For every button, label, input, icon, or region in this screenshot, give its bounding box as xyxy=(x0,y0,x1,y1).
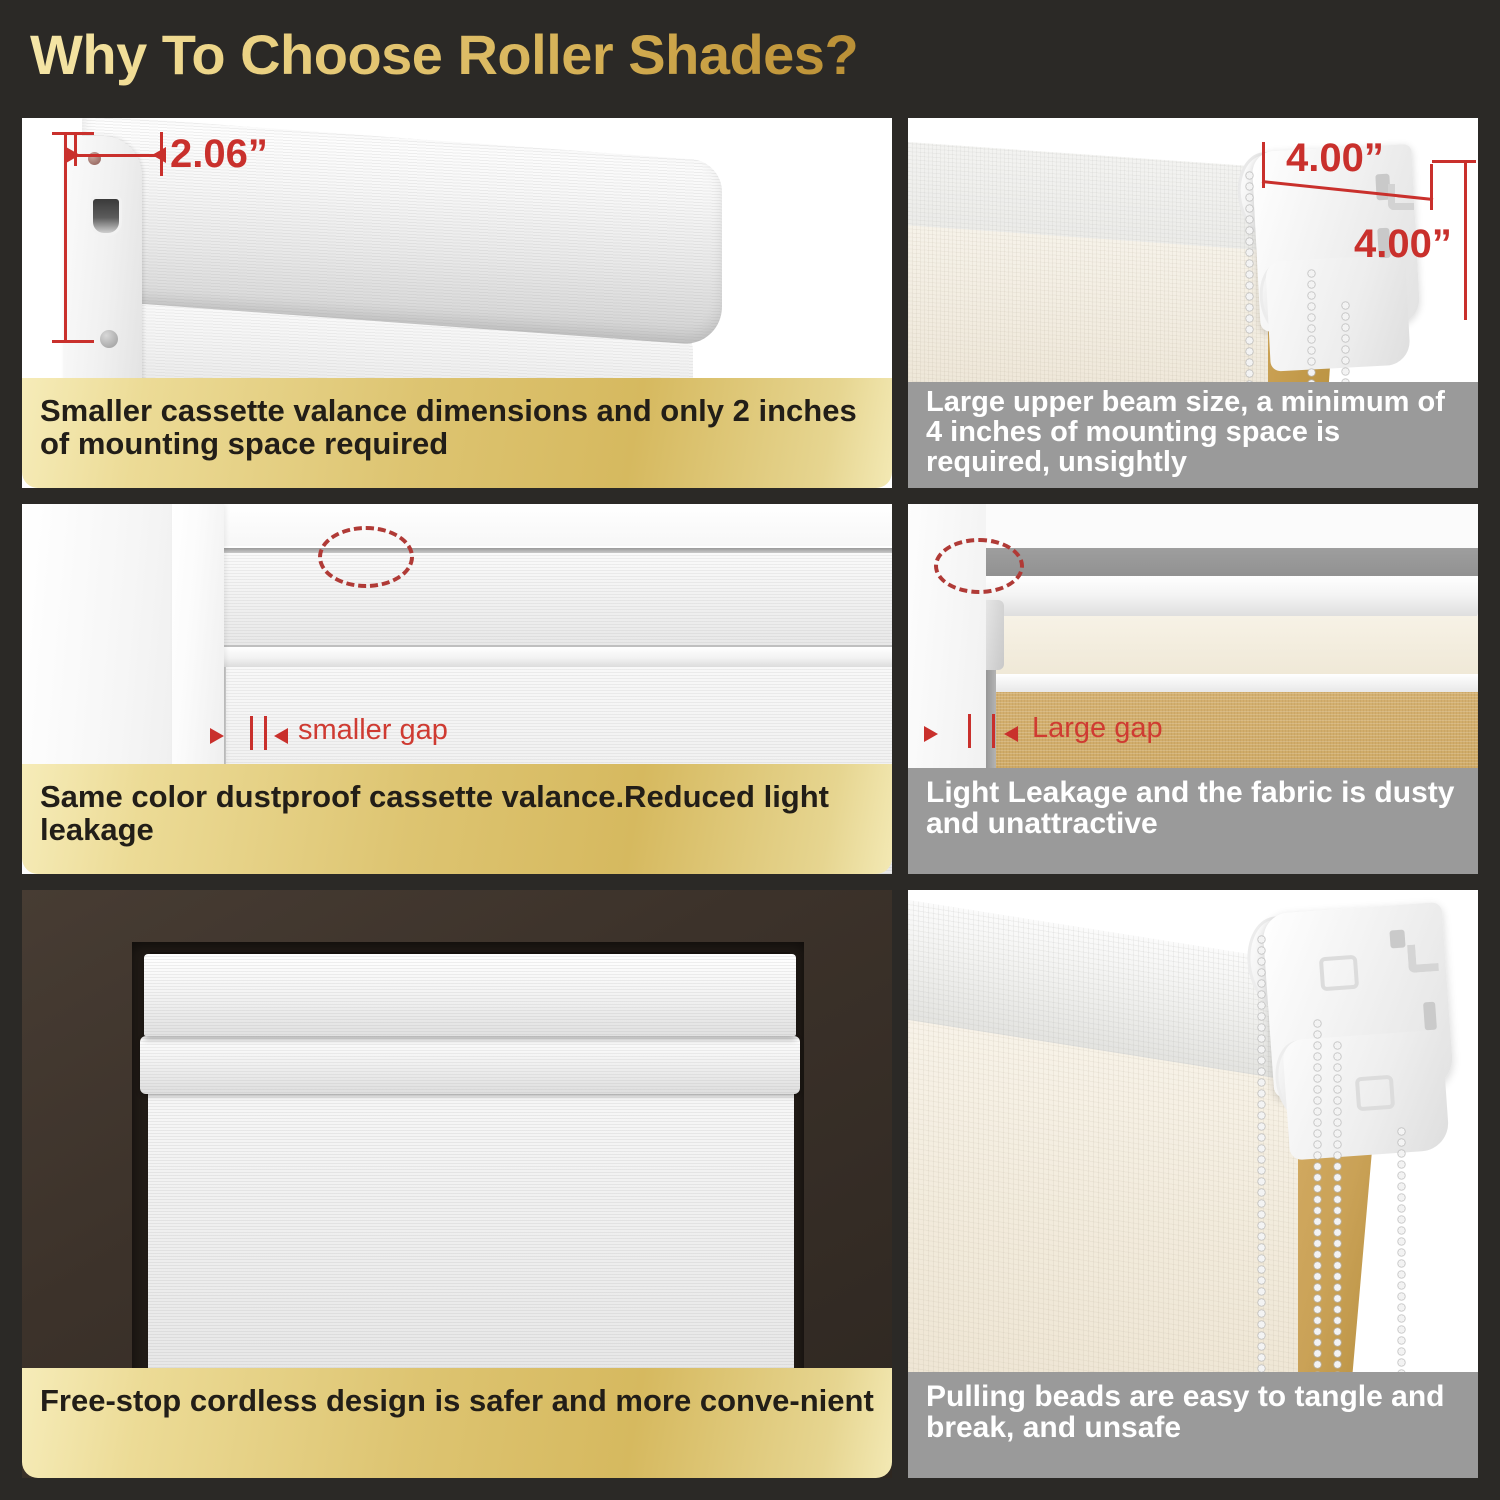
dim-ext-bottom xyxy=(52,340,94,343)
panel-pro-light-leakage: smaller gap Same color dustproof cassett… xyxy=(22,504,892,874)
mounting-bracket xyxy=(1265,254,1411,371)
highlight-ellipse-icon xyxy=(318,526,414,588)
dim-tick-right xyxy=(1430,164,1433,210)
screw-icon xyxy=(100,330,118,348)
panel-pro-cassette-size: 2.06” 5.49” Smaller cassette valance dim… xyxy=(22,118,892,488)
dimension-label-width: 2.06” xyxy=(170,132,268,177)
dim-arrow-left xyxy=(66,147,80,163)
caption-pro-cordless: Free-stop cordless design is safer and m… xyxy=(22,1368,892,1478)
gap-arrow-right xyxy=(1004,726,1018,742)
page-title: Why To Choose Roller Shades? xyxy=(30,22,858,87)
bead-chain xyxy=(1332,1040,1343,1424)
gap-marker-a xyxy=(968,714,971,748)
gap-arrow-right xyxy=(274,728,288,744)
panel-con-light-leakage: Large gap Light Leakage and the fabric i… xyxy=(908,504,1478,874)
gap-arrow-left xyxy=(210,728,224,744)
dim-line-width xyxy=(74,154,164,157)
caption-con-beam-size: Large upper beam size, a minimum of 4 in… xyxy=(908,382,1478,488)
dim-arrow-right xyxy=(152,147,166,163)
panel-pro-cordless: Free-stop cordless design is safer and m… xyxy=(22,890,892,1478)
dim-ext-top xyxy=(52,132,94,135)
caption-con-light-leakage: Light Leakage and the fabric is dusty an… xyxy=(908,768,1478,874)
bead-chain xyxy=(1312,1018,1323,1424)
cassette-valance-bar xyxy=(212,645,892,667)
comparison-grid: 2.06” 5.49” Smaller cassette valance dim… xyxy=(22,118,1478,1478)
dim-line-height xyxy=(64,132,67,342)
bead-chain xyxy=(1256,934,1267,1424)
dimension-label-height: 4.00” xyxy=(1354,222,1452,267)
cassette-slot xyxy=(90,196,122,236)
highlight-ellipse-icon xyxy=(934,538,1024,594)
caption-pro-cassette-size: Smaller cassette valance dimensions and … xyxy=(22,378,892,488)
gap-marker-b xyxy=(992,714,995,748)
panel-con-pulling-beads: Pulling beads are easy to tangle and bre… xyxy=(908,890,1478,1478)
gap-label-smaller: smaller gap xyxy=(298,714,448,747)
dim-ext-top xyxy=(1432,160,1476,163)
dim-tick-left xyxy=(1262,142,1265,188)
panel-con-beam-size: 4.00” 4.00” Large upper beam size, a min… xyxy=(908,118,1478,488)
gap-marker-b xyxy=(264,716,267,750)
cassette-valance xyxy=(144,954,796,1036)
infographic-page: Why To Choose Roller Shades? 2.06” xyxy=(0,0,1500,1500)
caption-pro-light-leakage: Same color dustproof cassette valance.Re… xyxy=(22,764,892,874)
gap-label-large: Large gap xyxy=(1032,712,1163,745)
gap-arrow-left xyxy=(924,726,938,742)
caption-con-pulling-beads: Pulling beads are easy to tangle and bre… xyxy=(908,1372,1478,1478)
dim-line-height xyxy=(1464,160,1467,320)
gap-marker-a xyxy=(250,716,253,750)
dimension-label-width: 4.00” xyxy=(1286,136,1384,181)
